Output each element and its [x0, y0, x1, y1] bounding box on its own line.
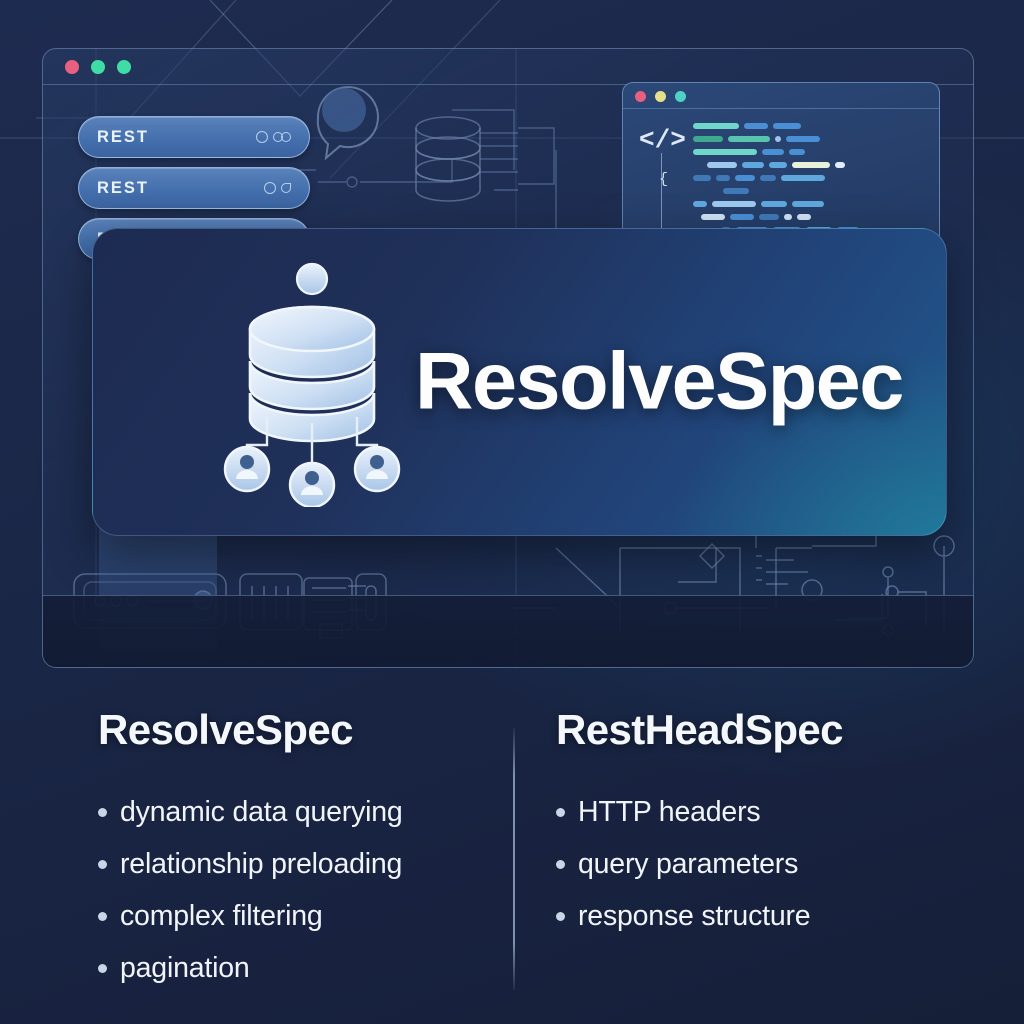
- code-token: [693, 136, 723, 142]
- bullet-icon: [556, 860, 565, 869]
- code-line: [701, 214, 929, 220]
- maximize-dot[interactable]: [117, 60, 131, 74]
- minimize-dot[interactable]: [655, 91, 666, 102]
- window-footer: [43, 595, 973, 667]
- code-token: [784, 214, 792, 220]
- database-network-logo: [205, 257, 420, 507]
- rest-pill-label: REST: [97, 128, 149, 147]
- code-token: [760, 175, 776, 181]
- code-token: [735, 175, 755, 181]
- circle-icon: [264, 182, 276, 194]
- feature-label: complex filtering: [120, 900, 323, 933]
- code-token: [693, 201, 707, 207]
- feature-item: dynamic data querying: [98, 796, 478, 829]
- feature-columns: ResolveSpec dynamic data querying relati…: [0, 706, 1024, 1006]
- rest-pill[interactable]: REST: [78, 116, 310, 158]
- code-token: [781, 175, 825, 181]
- infinity-icon: [281, 132, 291, 142]
- code-token: [712, 201, 756, 207]
- close-dot[interactable]: [635, 91, 646, 102]
- code-token: [701, 214, 725, 220]
- close-dot[interactable]: [65, 60, 79, 74]
- bullet-icon: [556, 808, 565, 817]
- feature-item: query parameters: [556, 848, 956, 881]
- code-token: [775, 136, 781, 142]
- code-line: [693, 136, 929, 142]
- feature-item: response structure: [556, 900, 956, 933]
- code-token: [707, 162, 737, 168]
- arrow-loop-icon: [281, 183, 291, 193]
- feature-item: HTTP headers: [556, 796, 956, 829]
- rest-pill[interactable]: REST: [78, 167, 310, 209]
- code-brackets-icon: </>: [639, 125, 686, 155]
- feature-item: pagination: [98, 952, 478, 985]
- code-token: [792, 201, 824, 207]
- bullet-icon: [98, 964, 107, 973]
- feature-label: relationship preloading: [120, 848, 402, 881]
- column-heading: RestHeadSpec: [556, 706, 956, 754]
- code-token: [773, 123, 801, 129]
- feature-label: query parameters: [578, 848, 798, 881]
- code-line: [693, 149, 929, 155]
- maximize-dot[interactable]: [675, 91, 686, 102]
- bullet-icon: [556, 912, 565, 921]
- code-token: [693, 123, 739, 129]
- code-window-titlebar: [623, 83, 939, 109]
- bullet-icon: [98, 860, 107, 869]
- code-line: [693, 123, 929, 129]
- traffic-lights: [65, 60, 131, 74]
- rest-pill-icons: [264, 182, 291, 194]
- code-token: [693, 149, 757, 155]
- code-token: [762, 149, 784, 155]
- code-token: [728, 136, 770, 142]
- code-line: [707, 162, 929, 168]
- brace-icon: {: [659, 171, 668, 188]
- code-traffic-lights: [635, 91, 686, 102]
- code-token: [789, 149, 805, 155]
- rest-pill-label: REST: [97, 179, 149, 198]
- code-token: [835, 162, 845, 168]
- feature-item: relationship preloading: [98, 848, 478, 881]
- window-titlebar: [43, 49, 973, 85]
- feature-item: complex filtering: [98, 900, 478, 933]
- code-token: [786, 136, 820, 142]
- code-token: [797, 214, 811, 220]
- column-heading: ResolveSpec: [98, 706, 478, 754]
- code-token: [769, 162, 787, 168]
- rest-pill-icons: [256, 131, 291, 143]
- code-token: [730, 214, 754, 220]
- bullet-icon: [98, 912, 107, 921]
- column-divider: [513, 728, 515, 990]
- code-line: [693, 175, 929, 181]
- code-token: [716, 175, 730, 181]
- feature-label: response structure: [578, 900, 810, 933]
- hero-card: ResolveSpec: [92, 228, 947, 536]
- feature-label: HTTP headers: [578, 796, 760, 829]
- code-token: [761, 201, 787, 207]
- circle-icon: [256, 131, 268, 143]
- code-token: [792, 162, 830, 168]
- code-token: [759, 214, 779, 220]
- code-line: [693, 201, 929, 207]
- code-token: [742, 162, 764, 168]
- resolvespec-column: ResolveSpec dynamic data querying relati…: [98, 706, 478, 1004]
- code-token: [723, 188, 749, 194]
- restheadspec-column: RestHeadSpec HTTP headers query paramete…: [556, 706, 956, 952]
- code-token: [744, 123, 768, 129]
- feature-label: dynamic data querying: [120, 796, 403, 829]
- bullet-icon: [98, 808, 107, 817]
- feature-label: pagination: [120, 952, 250, 985]
- page-title: ResolveSpec: [415, 336, 903, 429]
- code-line: [723, 188, 929, 194]
- minimize-dot[interactable]: [91, 60, 105, 74]
- code-token: [693, 175, 711, 181]
